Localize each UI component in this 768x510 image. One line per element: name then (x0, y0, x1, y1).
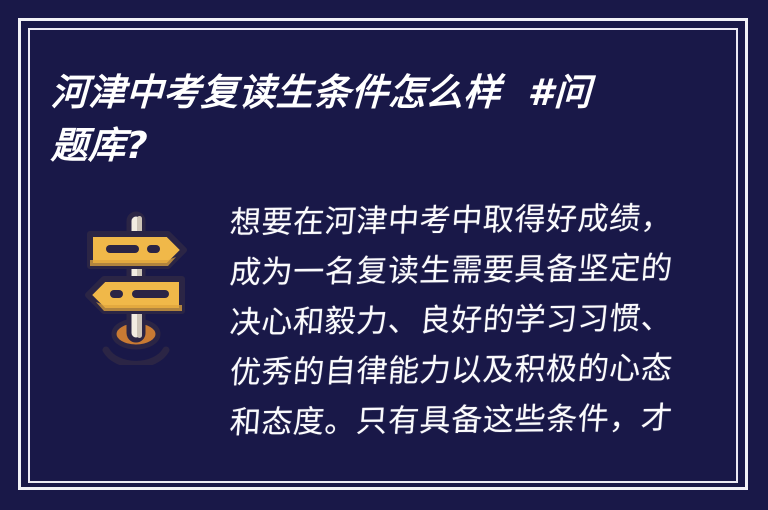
signpost-icon (76, 200, 196, 365)
sign-top-dash-long (106, 245, 139, 253)
poster-canvas: 河津中考复读生条件怎么样 #问 题库? 想要在河津中考中取得好成绩， 成为一名复… (0, 0, 768, 510)
body-line-5: 和态度。只有具备这些条件，才 (228, 393, 662, 448)
body-line-1: 想要在河津中考中取得好成绩， (228, 193, 662, 248)
ground-arc (106, 350, 166, 364)
sign-bottom-dash-short (110, 290, 123, 298)
sign-top-dash-short (147, 245, 160, 253)
body-line-4: 优秀的自律能力以及积极的心态 (228, 343, 662, 398)
title-line-2: 题库? (50, 119, 652, 172)
body-paragraph: 想要在河津中考中取得好成绩， 成为一名复读生需要具备坚定的 决心和毅力、良好的学… (228, 198, 658, 448)
page-title: 河津中考复读生条件怎么样 #问 题库? (50, 66, 650, 172)
body-line-3: 决心和毅力、良好的学习习惯、 (228, 293, 662, 348)
sign-bottom-dash-long (132, 290, 169, 298)
title-line-1: 河津中考复读生条件怎么样 #问 (50, 66, 652, 119)
body-line-2: 成为一名复读生需要具备坚定的 (228, 243, 662, 298)
